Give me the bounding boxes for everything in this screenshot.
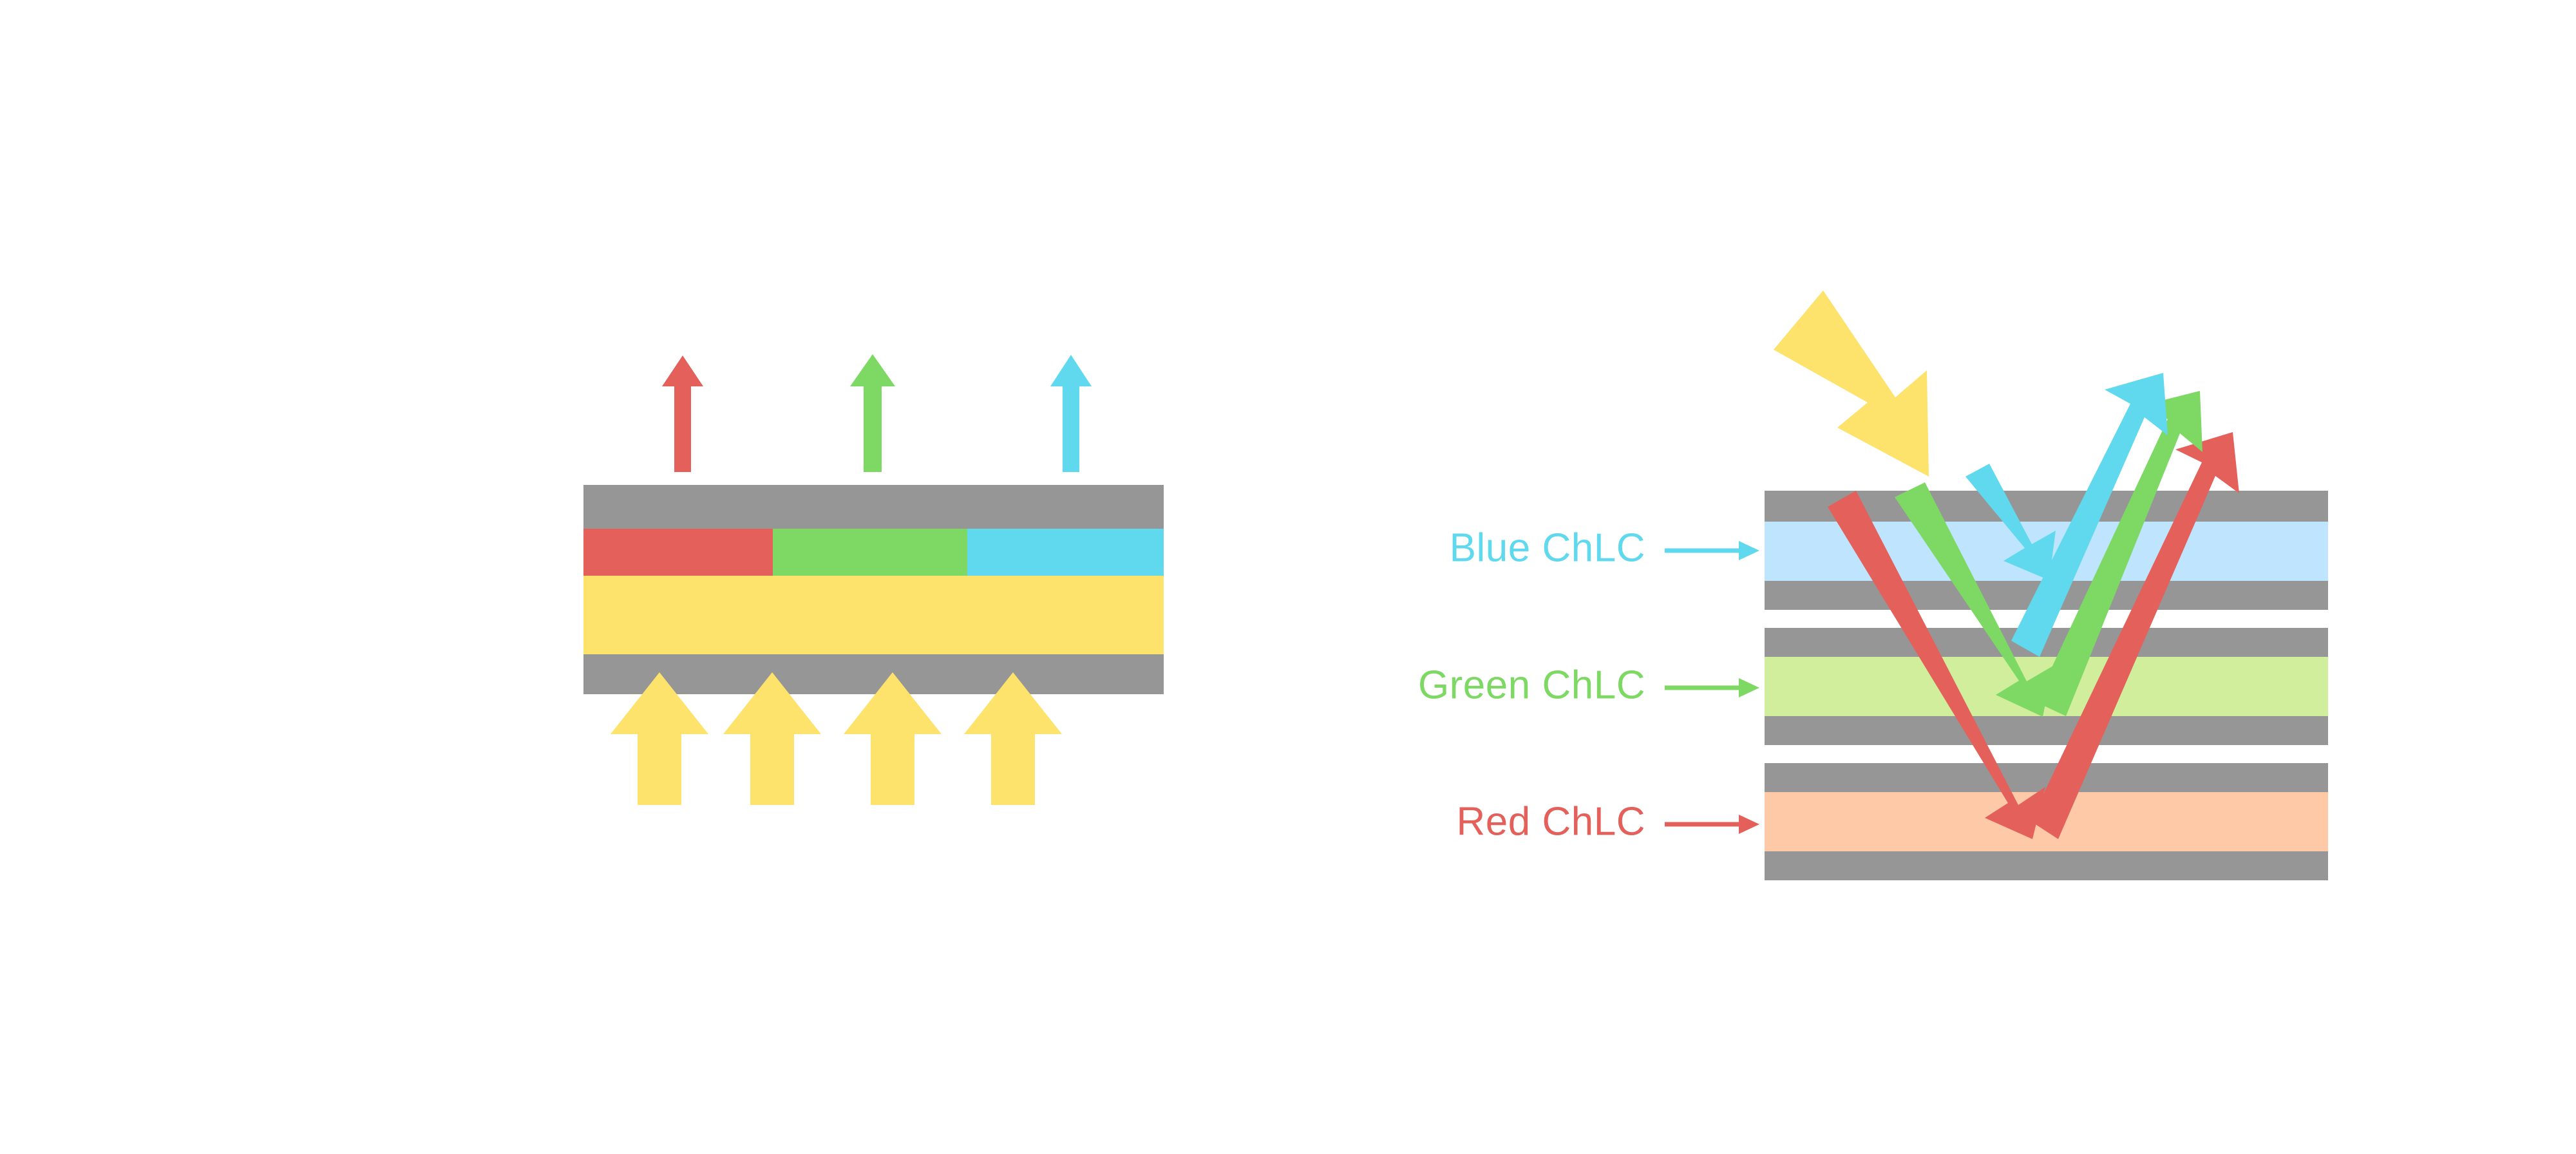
figure-root: Blue ChLC Green ChLC Red ChLC — [0, 0, 2576, 1154]
red-chlc-label: Red ChLC — [1457, 799, 1645, 844]
diagram-canvas: Blue ChLC Green ChLC Red ChLC — [0, 0, 2576, 1154]
left-stack-layers-group — [583, 485, 1164, 694]
rgb-color-filter-layer — [583, 529, 1164, 576]
red-top-electrode — [1765, 763, 2328, 792]
red-bottom-electrode — [1765, 851, 2328, 880]
green-chlc-label: Green ChLC — [1418, 663, 1645, 707]
blue-chlc-label: Blue ChLC — [1450, 525, 1645, 570]
green-filter-segment — [773, 529, 967, 576]
green-bottom-electrode — [1765, 716, 2328, 745]
red-filter-segment — [583, 529, 773, 576]
top-electrode-layer — [583, 485, 1164, 529]
blue-filter-segment — [967, 529, 1164, 576]
yellow-backlight-layer — [583, 576, 1164, 654]
